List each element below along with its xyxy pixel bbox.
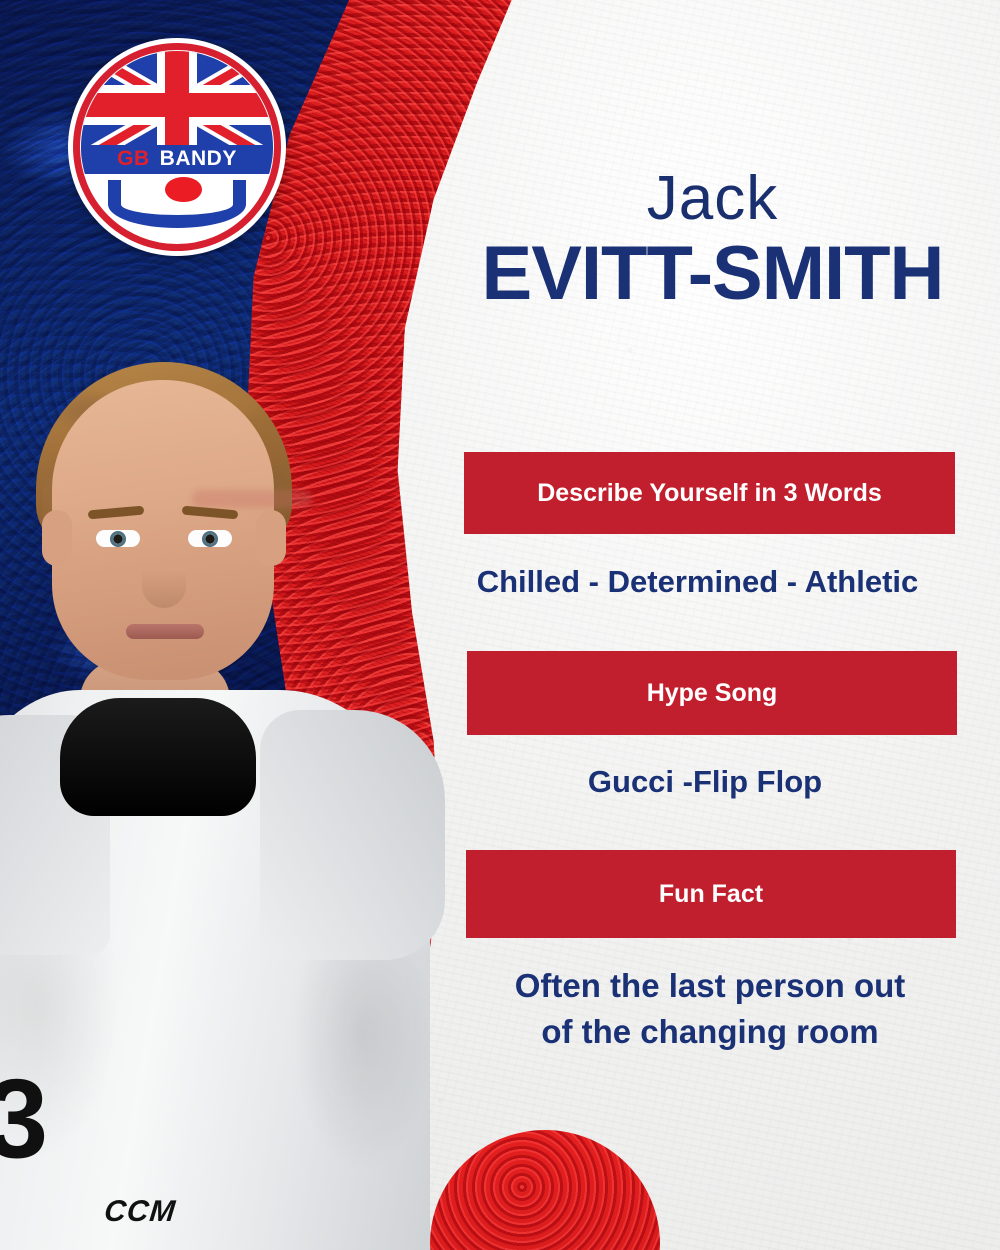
logo-outer-ring: [73, 43, 281, 251]
jersey-brand-ccm-icon: CCM: [68, 1195, 212, 1229]
answer-hype-song: Gucci -Flip Flop: [440, 762, 970, 802]
player-mouth: [126, 624, 204, 639]
question-banner-describe-yourself: Describe Yourself in 3 Words: [464, 452, 955, 534]
question-banner-fun-fact: Fun Fact: [466, 850, 956, 938]
player-eye-right: [188, 530, 232, 547]
player-neck-guard: [60, 698, 256, 816]
player-profile-card: 3 CCM BANDY: [0, 0, 1000, 1250]
player-ear-left: [42, 510, 72, 566]
player-nose: [142, 546, 186, 608]
player-photo: 3 CCM BANDY: [0, 360, 430, 1250]
player-forehead-mark: [192, 490, 312, 508]
player-ear-right: [256, 510, 286, 566]
jersey-number: 3: [0, 1060, 52, 1180]
player-eye-left: [96, 530, 140, 547]
player-last-name: EVITT-SMITH: [430, 234, 995, 314]
question-banner-hype-song: Hype Song: [467, 651, 957, 735]
gb-bandy-logo-icon: GB BANDY: [68, 38, 286, 256]
player-name-block: Jack EVITT-SMITH: [430, 168, 995, 314]
answer-fun-fact-line-1: Often the last person out: [445, 963, 975, 1009]
answer-fun-fact: Often the last person out of the changin…: [445, 963, 975, 1055]
player-shoulder-right: [260, 710, 445, 960]
answer-describe-yourself: Chilled - Determined - Athletic: [395, 562, 1000, 602]
answer-fun-fact-line-2: of the changing room: [445, 1009, 975, 1055]
player-first-name: Jack: [430, 168, 995, 230]
